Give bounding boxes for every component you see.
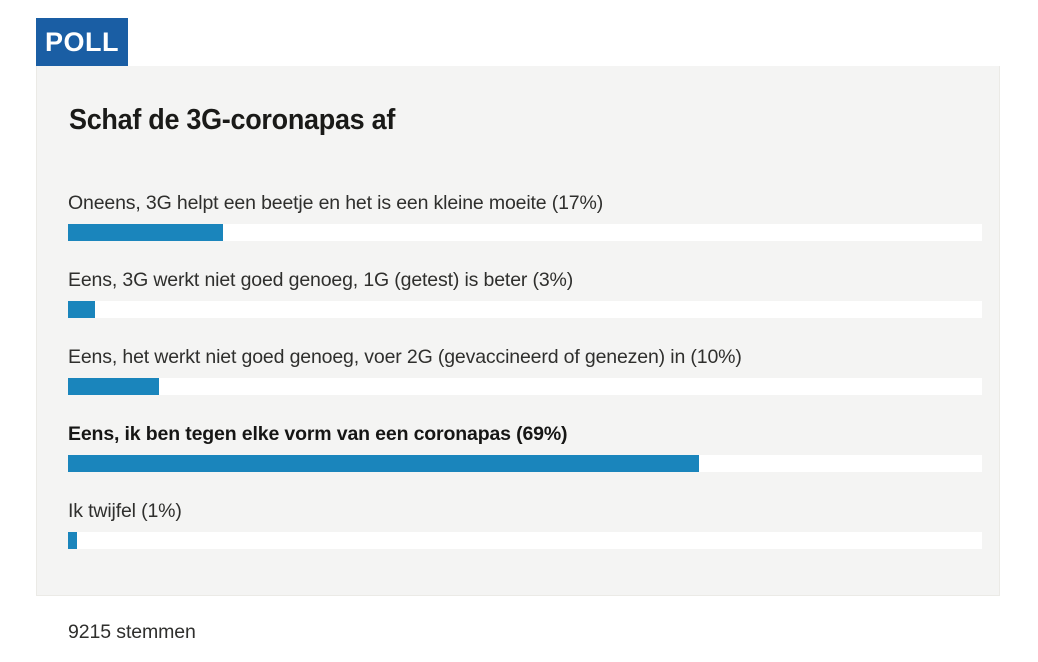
poll-option-label: Ik twijfel (1%) — [68, 498, 984, 524]
poll-option-bar-fill — [68, 301, 95, 318]
total-votes-label: 9215 stemmen — [68, 621, 196, 644]
poll-badge: POLL — [36, 18, 128, 66]
poll-option-3[interactable]: Eens, het werkt niet goed genoeg, voer 2… — [68, 344, 984, 395]
poll-option-5[interactable]: Ik twijfel (1%) — [68, 498, 984, 549]
poll-options-list: Oneens, 3G helpt een beetje en het is ee… — [68, 190, 984, 549]
poll-option-bar-fill — [68, 378, 159, 395]
page-title: Schaf de 3G-coronapas af — [69, 104, 395, 137]
poll-option-label: Eens, het werkt niet goed genoeg, voer 2… — [68, 344, 984, 370]
poll-option-2[interactable]: Eens, 3G werkt niet goed genoeg, 1G (get… — [68, 267, 984, 318]
poll-option-label: Eens, 3G werkt niet goed genoeg, 1G (get… — [68, 267, 984, 293]
poll-option-bar-track — [68, 378, 982, 395]
poll-option-bar-track — [68, 455, 982, 472]
poll-footer: 9215 stemmen — [36, 597, 1000, 662]
poll-option-1[interactable]: Oneens, 3G helpt een beetje en het is ee… — [68, 190, 984, 241]
poll-option-bar-track — [68, 532, 982, 549]
poll-card: Schaf de 3G-coronapas af Oneens, 3G help… — [36, 66, 1000, 596]
poll-widget: POLL Schaf de 3G-coronapas af Oneens, 3G… — [0, 0, 1038, 662]
poll-option-bar-fill — [68, 455, 699, 472]
poll-option-bar-fill — [68, 532, 77, 549]
poll-option-bar-track — [68, 224, 982, 241]
poll-option-label-selected: Eens, ik ben tegen elke vorm van een cor… — [68, 421, 984, 447]
poll-option-bar-fill — [68, 224, 223, 241]
poll-option-label: Oneens, 3G helpt een beetje en het is ee… — [68, 190, 984, 216]
poll-option-bar-track — [68, 301, 982, 318]
poll-option-4[interactable]: Eens, ik ben tegen elke vorm van een cor… — [68, 421, 984, 472]
